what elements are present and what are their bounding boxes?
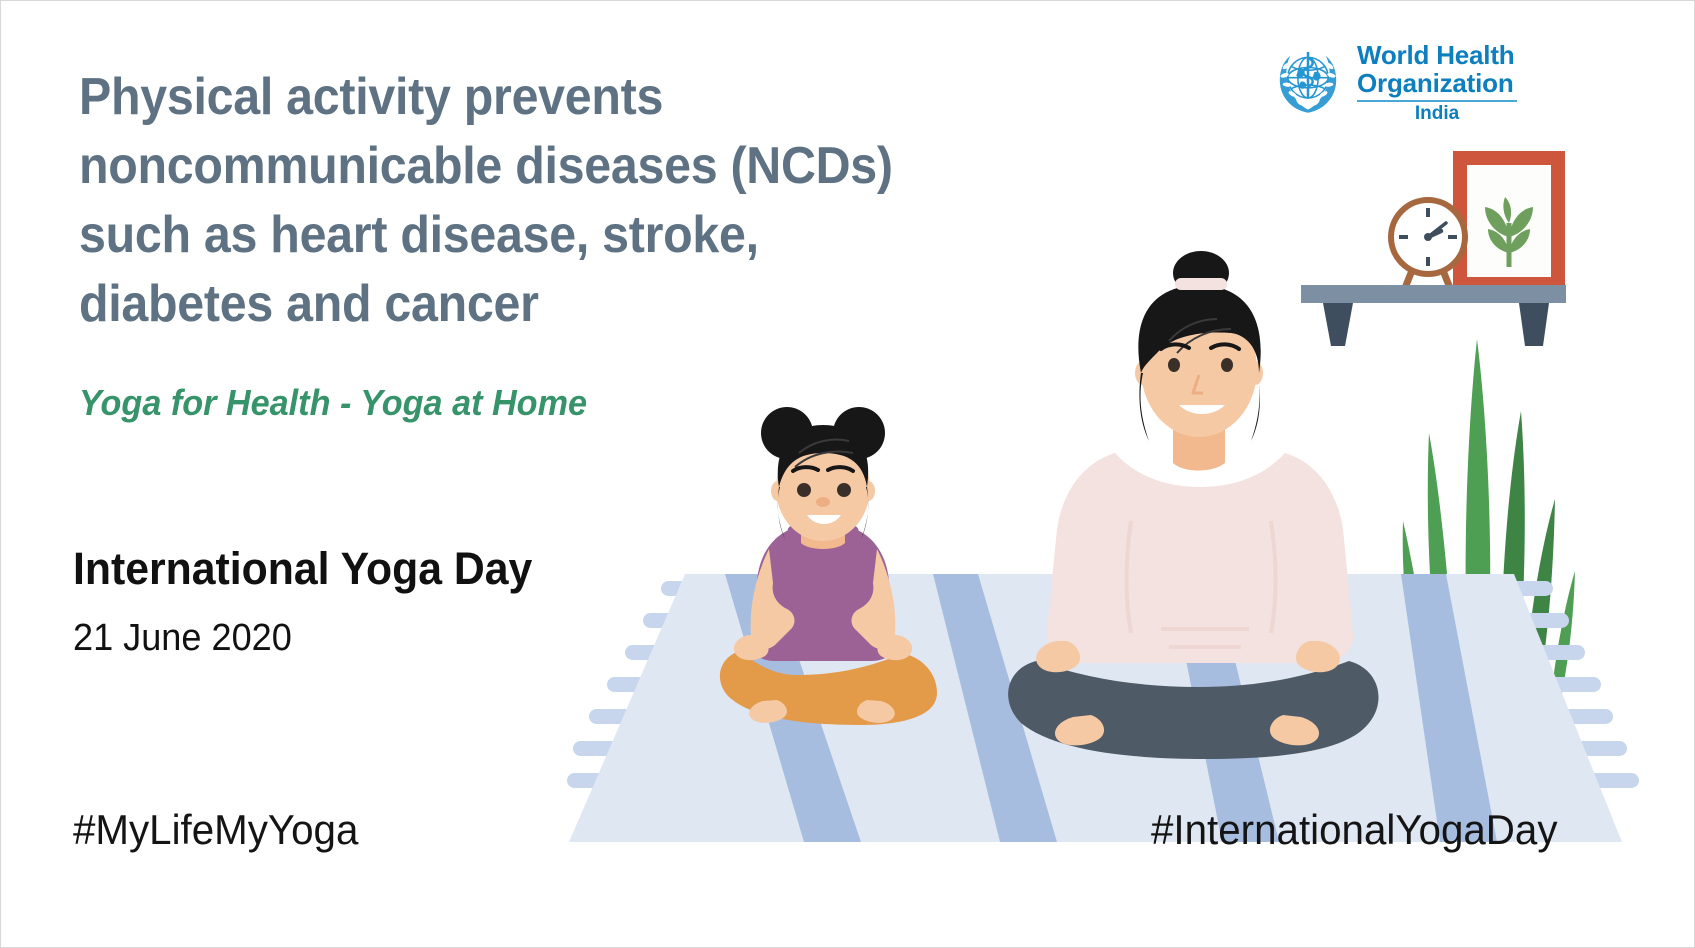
- who-line-1: World Health: [1357, 41, 1517, 69]
- wall-shelf-group: [1301, 151, 1566, 346]
- framed-plant-picture: [1453, 151, 1565, 291]
- shelf-bracket-left: [1323, 303, 1353, 346]
- event-title: International Yoga Day: [73, 546, 532, 591]
- hashtag-internationalyogaday: #InternationalYogaDay: [1151, 809, 1558, 851]
- who-line-2: Organization: [1357, 69, 1517, 97]
- yoga-day-poster: Physical activity prevents noncommunicab…: [0, 0, 1695, 948]
- who-divider: [1357, 100, 1517, 102]
- who-logo-text: World Health Organization India: [1357, 41, 1517, 125]
- subheadline: Yoga for Health - Yoga at Home: [79, 383, 587, 423]
- shelf-board: [1301, 285, 1566, 303]
- figure-girl: [720, 407, 937, 725]
- hashtag-mylifemyyoga: #MyLifeMyYoga: [73, 809, 358, 851]
- who-emblem-icon: [1269, 41, 1347, 119]
- shelf-bracket-right: [1519, 303, 1549, 346]
- headline: Physical activity prevents noncommunicab…: [79, 63, 944, 340]
- who-logo: World Health Organization India: [1269, 41, 1517, 125]
- who-country-label: India: [1415, 104, 1459, 125]
- event-date: 21 June 2020: [73, 619, 292, 657]
